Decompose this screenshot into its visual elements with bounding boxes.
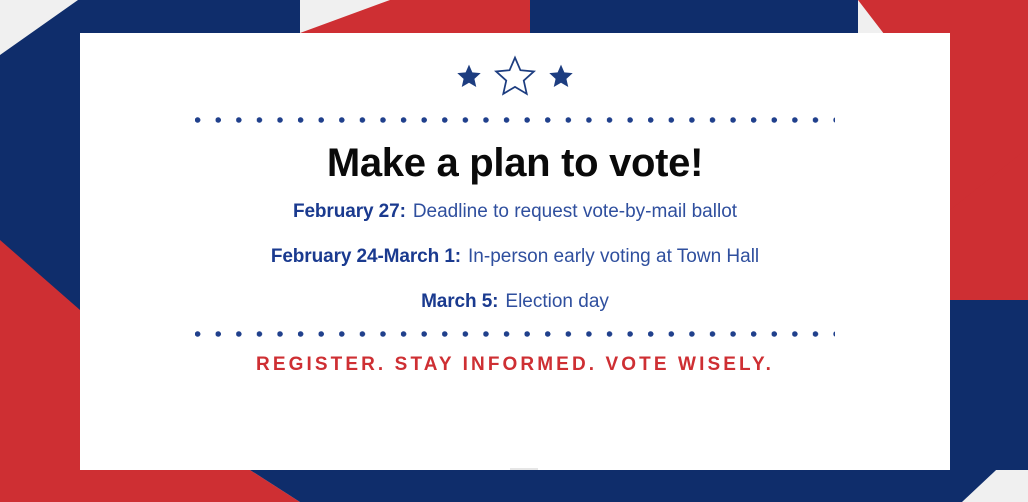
call-to-action-text: REGISTER. STAY INFORMED. VOTE WISELY. [256,354,774,376]
schedule-date-label: March 5: [421,291,498,312]
schedule-date-label: February 27: [293,201,406,222]
poster-card: Make a plan to vote! February 27:Deadlin… [80,33,950,470]
navy-shape-bottom [250,470,1028,502]
dotted-divider-bottom [195,331,835,337]
voting-info-poster: Make a plan to vote! February 27:Deadlin… [0,0,1028,502]
list-item: February 27:Deadline to request vote-by-… [293,201,737,224]
navy-shape-right [950,300,1028,470]
schedule-description: Election day [505,291,609,312]
page-title: Make a plan to vote! [327,141,703,185]
star-right-icon [548,63,574,89]
dotted-divider-top [195,117,835,123]
schedule-list: February 27:Deadline to request vote-by-… [80,201,950,313]
navy-shape-top-center-right [530,0,858,33]
star-left-icon [456,63,482,89]
schedule-description: In-person early voting at Town Hall [468,246,759,267]
star-center-icon [494,55,536,97]
list-item: March 5:Election day [421,291,609,314]
list-item: February 24-March 1:In-person early voti… [271,246,759,269]
card-bottom-seam [510,468,538,470]
schedule-date-label: February 24-March 1: [271,246,461,267]
schedule-description: Deadline to request vote-by-mail ballot [413,201,737,222]
star-row [456,51,574,101]
